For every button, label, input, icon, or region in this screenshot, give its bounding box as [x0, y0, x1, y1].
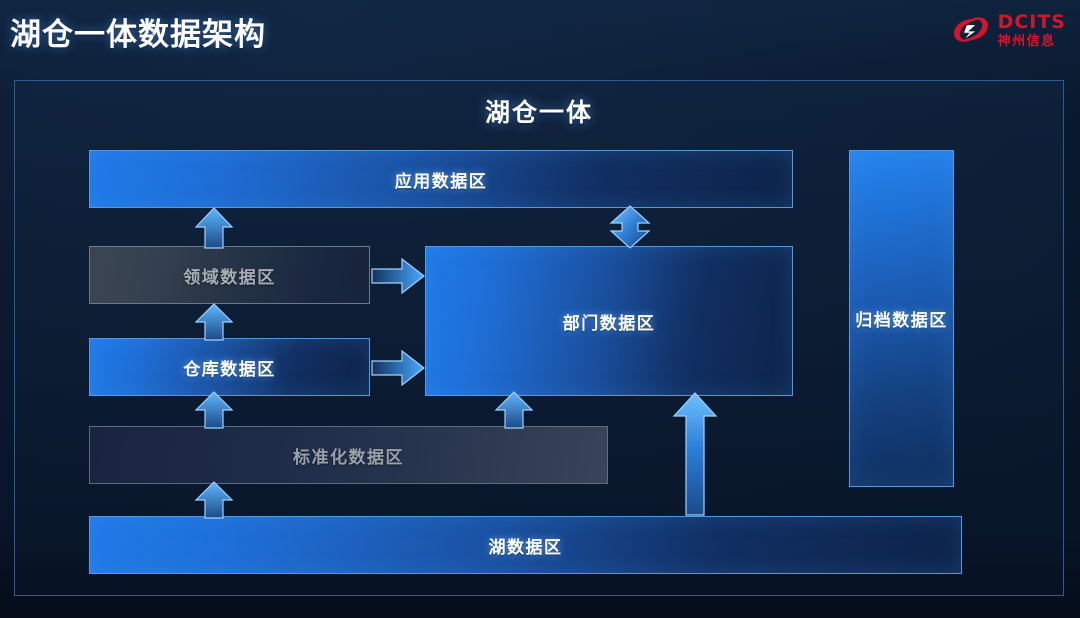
- arrow-up-icon-standardization-to-department: [494, 391, 534, 429]
- logo-wordmark: DCITS 神州信息: [998, 13, 1066, 48]
- arrow-up-icon-standardization-to-warehouse: [194, 391, 234, 429]
- logo-en-text: DCITS: [998, 13, 1066, 32]
- zone-application-data[interactable]: 应用数据区: [89, 150, 793, 208]
- slide-canvas: 湖仓一体数据架构 DCITS 神州信息 湖仓一体 应用数据区 领域数据区 仓库数…: [0, 0, 1080, 618]
- arrow-up-long-icon-lake-to-department: [672, 392, 718, 516]
- zone-lake-data[interactable]: 湖数据区: [89, 516, 962, 574]
- arrow-up-icon-domain-to-application: [194, 207, 234, 249]
- diagram-title: 湖仓一体: [15, 93, 1063, 129]
- zone-archive-data[interactable]: 归档数据区: [849, 150, 954, 487]
- zone-warehouse-data[interactable]: 仓库数据区: [89, 338, 370, 396]
- arrow-up-icon-warehouse-to-domain: [194, 303, 234, 341]
- arrow-right-icon-domain-to-department: [371, 258, 425, 294]
- zone-department-data[interactable]: 部门数据区: [425, 246, 793, 396]
- zone-standardization-data[interactable]: 标准化数据区: [89, 426, 608, 484]
- arrow-right-icon-warehouse-to-department: [371, 350, 425, 386]
- page-title: 湖仓一体数据架构: [10, 9, 266, 54]
- brand-logo: DCITS 神州信息: [950, 8, 1066, 52]
- logo-cn-text: 神州信息: [998, 35, 1066, 48]
- zone-domain-data[interactable]: 领域数据区: [89, 246, 370, 304]
- dcits-swoosh-icon: [950, 13, 992, 47]
- arrow-up-down-icon-department-to-application: [608, 205, 652, 249]
- arrow-up-icon-lake-to-standardization: [194, 481, 234, 519]
